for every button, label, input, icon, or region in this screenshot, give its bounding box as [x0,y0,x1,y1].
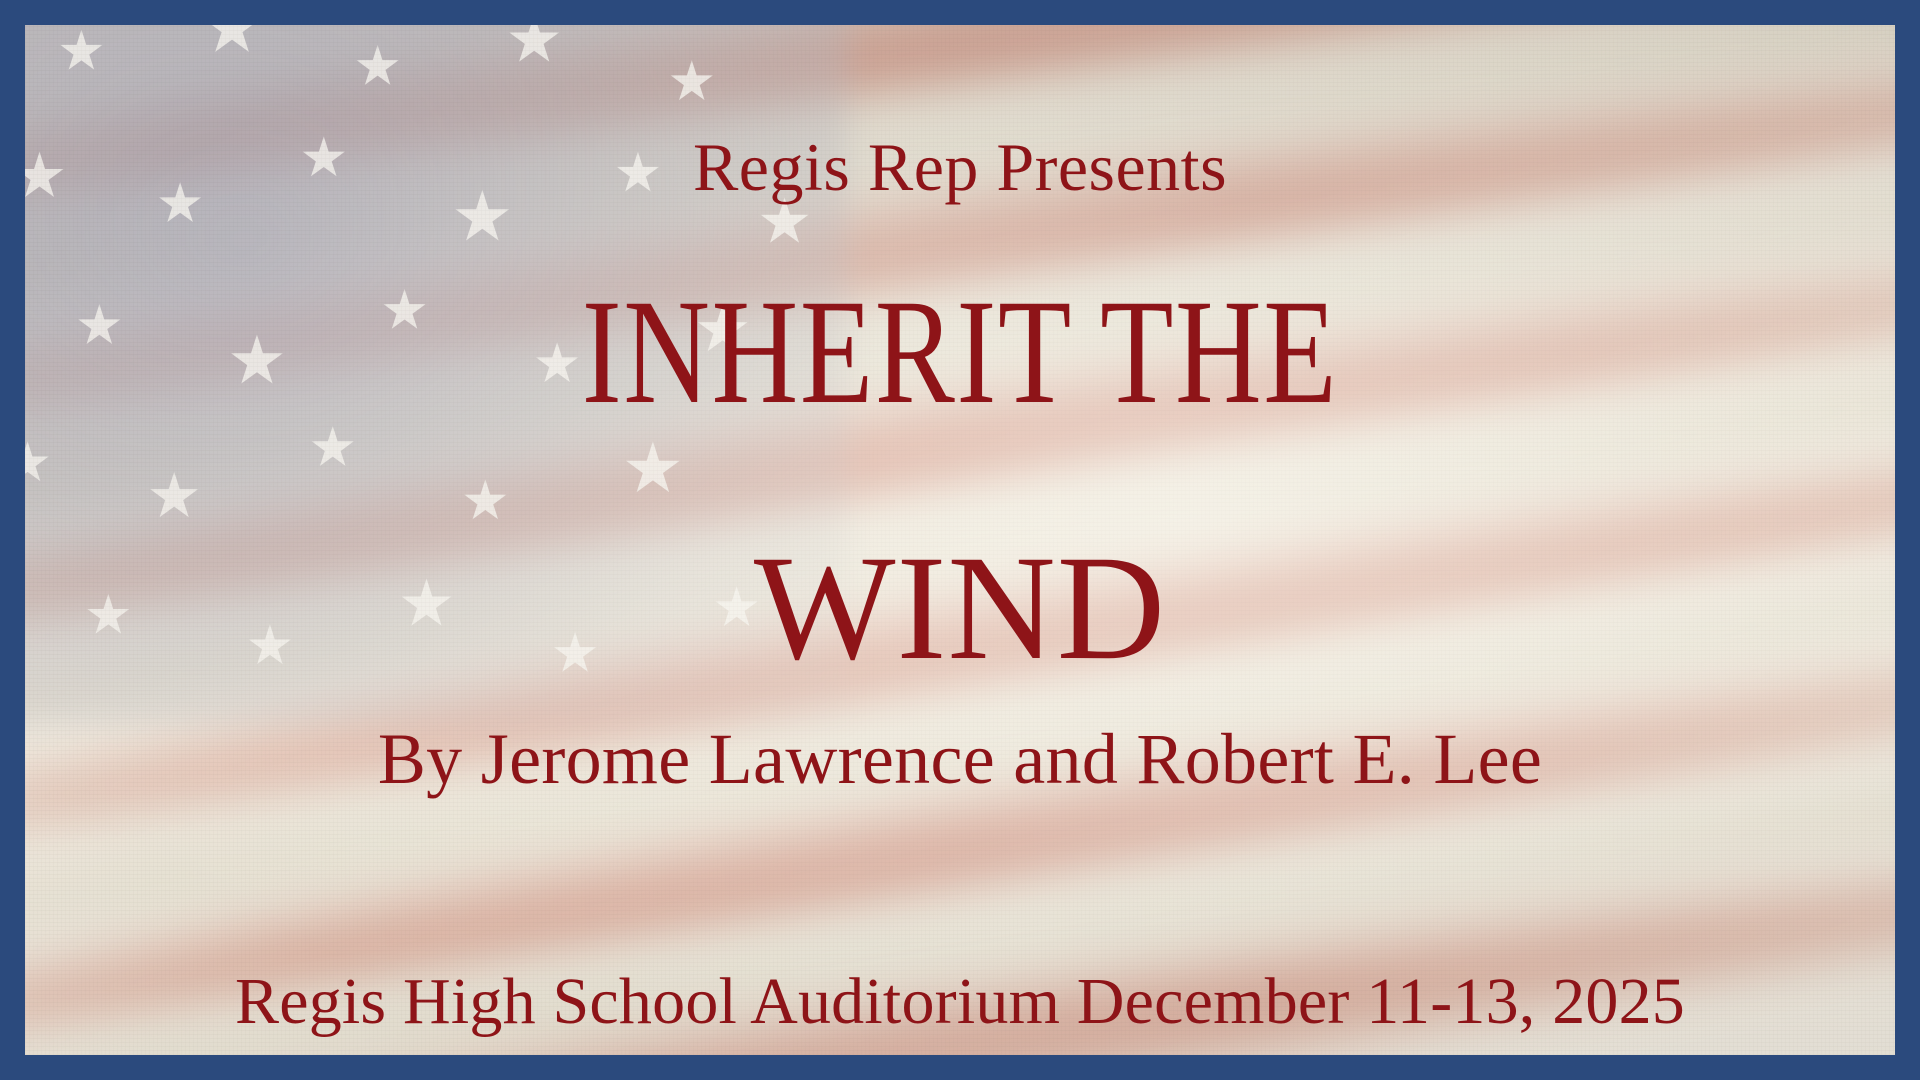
poster-text-content: Regis Rep Presents INHERIT THE WIND By J… [25,25,1895,1055]
title-line-1: INHERIT THE [212,277,1708,427]
title-line-2: WIND [25,533,1895,683]
presents-line: Regis Rep Presents [25,133,1895,201]
playwright-byline: By Jerome Lawrence and Robert E. Lee [25,723,1895,795]
venue-and-dates: Regis High School Auditorium December 11… [25,969,1895,1035]
poster-frame: Regis Rep Presents INHERIT THE WIND By J… [0,0,1920,1080]
poster-canvas: Regis Rep Presents INHERIT THE WIND By J… [25,25,1895,1055]
